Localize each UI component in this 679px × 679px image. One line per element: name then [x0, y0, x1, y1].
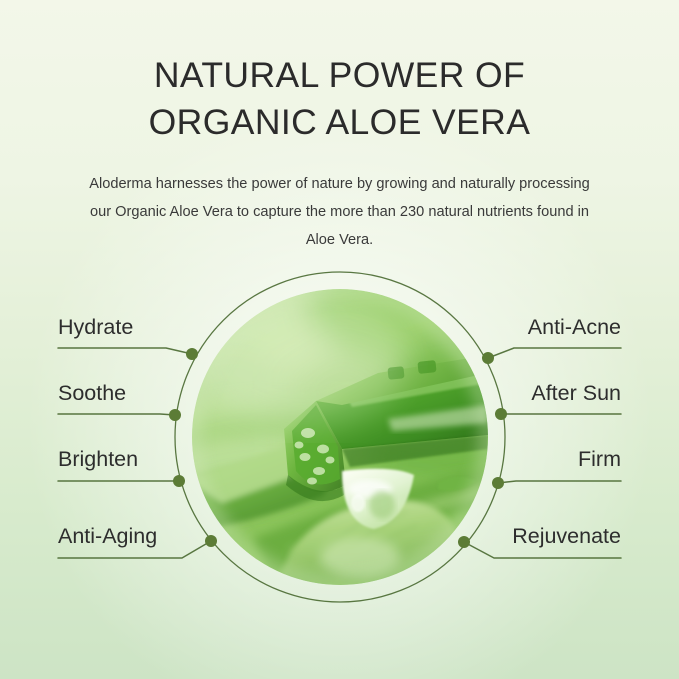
node-dot-firm	[492, 477, 504, 489]
aloe-vera-infographic-poster: NATURAL POWER OF ORGANIC ALOE VERA Alode…	[0, 0, 679, 679]
connector-line-firm	[498, 481, 621, 483]
outer-ring	[175, 272, 505, 602]
benefit-label-firm: Firm	[578, 447, 621, 471]
node-dot-hydrate	[186, 348, 198, 360]
connector-line-soothe	[58, 414, 175, 415]
benefit-label-anti-acne: Anti-Acne	[528, 315, 621, 339]
node-dot-anti-acne	[482, 352, 494, 364]
node-dot-after-sun	[495, 408, 507, 420]
connector-line-hydrate	[58, 348, 192, 354]
node-dot-brighten	[173, 475, 185, 487]
benefit-label-soothe: Soothe	[58, 381, 126, 405]
benefit-label-after-sun: After Sun	[531, 381, 621, 405]
benefit-label-anti-aging: Anti-Aging	[58, 524, 157, 548]
benefit-label-rejuvenate: Rejuvenate	[512, 524, 621, 548]
benefit-label-brighten: Brighten	[58, 447, 138, 471]
connector-overlay	[0, 0, 679, 679]
node-dot-anti-aging	[205, 535, 217, 547]
connector-line-anti-acne	[488, 348, 621, 358]
node-dot-soothe	[169, 409, 181, 421]
benefits-diagram: Hydrate Soothe Brighten Anti-Aging Anti-…	[0, 0, 679, 679]
benefit-label-hydrate: Hydrate	[58, 315, 133, 339]
node-dot-rejuvenate	[458, 536, 470, 548]
